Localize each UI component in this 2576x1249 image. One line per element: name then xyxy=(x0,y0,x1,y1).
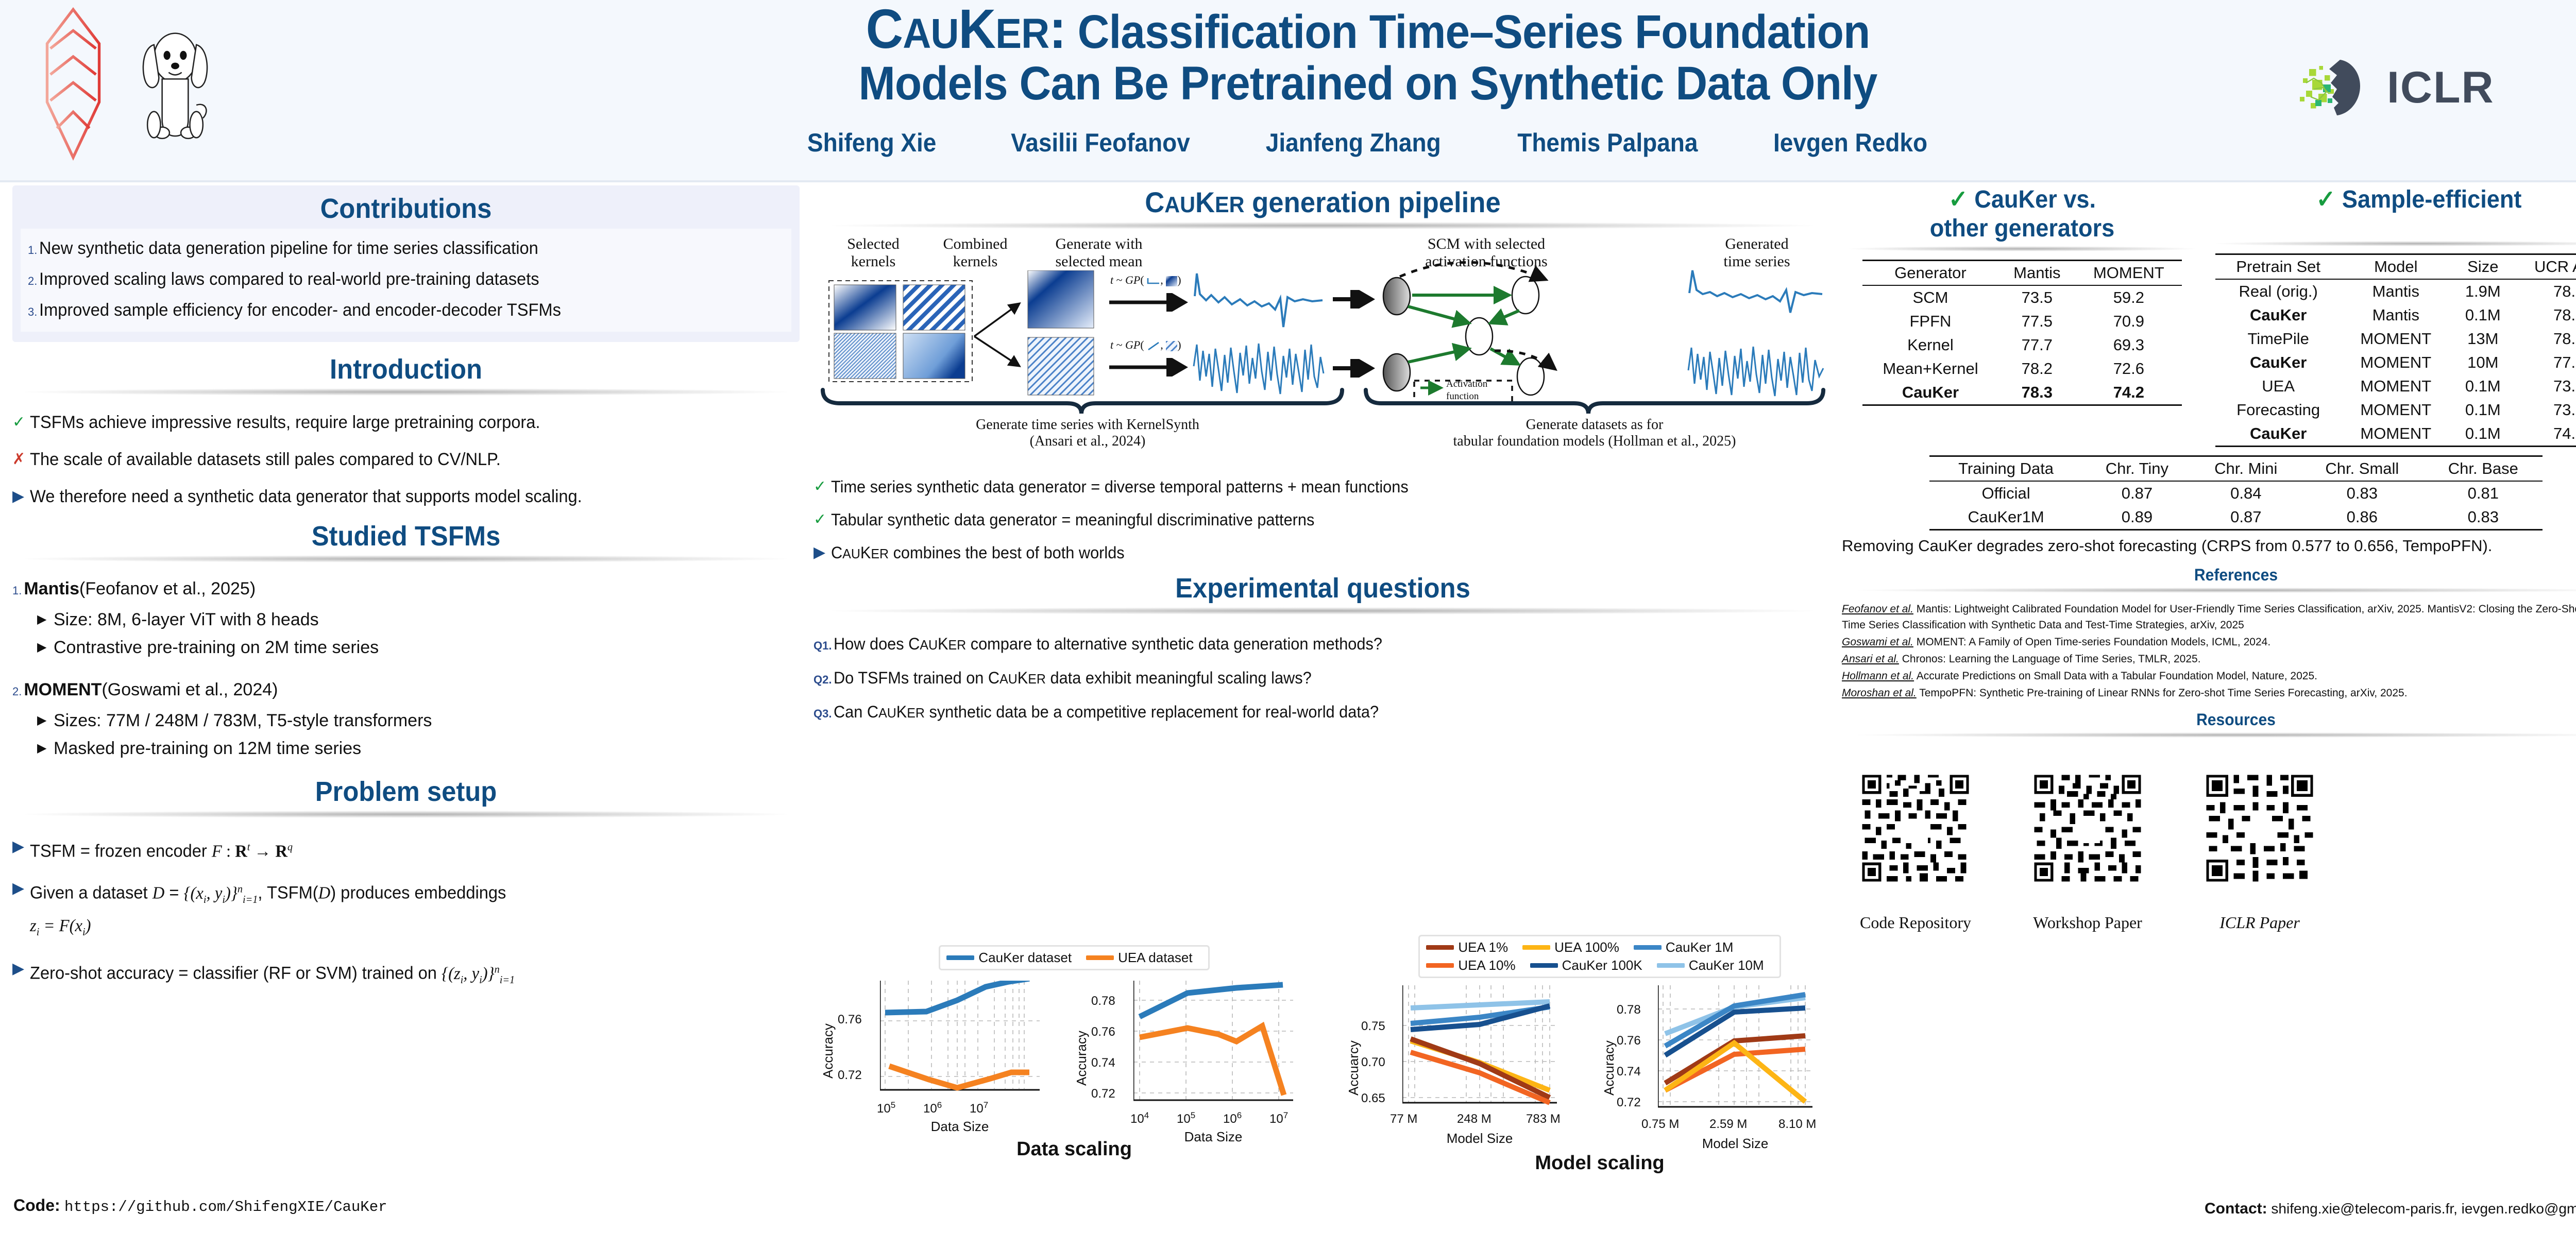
list-item: 3.Improved sample efficiency for encoder… xyxy=(28,296,784,327)
cauker-pipeline-figure: Selectedkernels Combinedkernels Generate… xyxy=(811,235,1834,405)
studied-tsfms-heading: Studied TSFMs xyxy=(33,520,779,552)
table-header-row: Training Data Chr. Tiny Chr. Mini Chr. S… xyxy=(1929,456,2543,482)
x-tick: 77 M xyxy=(1390,1112,1417,1126)
data-scaling-figure: CauKer dataset UEA dataset Accuracy 0.76… xyxy=(819,945,1329,1160)
section-divider xyxy=(25,811,787,818)
x-axis-label: Model Size xyxy=(1658,1136,1812,1152)
combine-arrows xyxy=(972,285,1029,383)
table-header-row: Pretrain Set Model Size UCR Acc. xyxy=(2215,254,2576,280)
list-item: ▶Masked pre-training on 12M time series xyxy=(37,734,803,762)
code-url[interactable]: https://github.com/ShifengXIE/CauKer xyxy=(64,1199,387,1216)
col-header: Size xyxy=(2450,254,2515,280)
list-item: ▶We therefore need a synthetic data gene… xyxy=(12,483,803,510)
legend-item: UEA 1% xyxy=(1426,939,1508,955)
list-item: ▶Size: 8M, 6-layer ViT with 8 heads xyxy=(37,606,803,634)
references-heading: References xyxy=(1866,566,2576,585)
pipeline-col-label-3: Generate withselected mean xyxy=(1027,235,1171,270)
gp-label-bottom: t ~ GP( , ) xyxy=(1110,338,1181,352)
plot-area xyxy=(1402,985,1557,1109)
check-icon: ✓ xyxy=(814,473,831,500)
author-name: Ievgen Redko xyxy=(1773,128,1927,158)
legend-item: UEA 100% xyxy=(1522,939,1619,955)
forecasting-note: Removing CauKer degrades zero-shot forec… xyxy=(1842,535,2576,557)
studied-tsfms-list-2: 2.MOMENT (Goswami et al., 2024) xyxy=(9,677,803,705)
legend-swatch xyxy=(1634,945,1662,950)
moment-bullets: ▶Sizes: 77M / 248M / 783M, T5-style tran… xyxy=(37,707,803,762)
sample-efficient-heading: ✓ Sample-efficient xyxy=(2221,185,2576,214)
y-tick: 0.74 xyxy=(1617,1065,1641,1079)
left-column: Contributions 1.New synthetic data gener… xyxy=(9,185,803,1003)
y-tick: 0.78 xyxy=(1091,994,1115,1008)
y-tick: 0.76 xyxy=(1091,1025,1115,1039)
table-row: Mean+Kernel78.272.6 xyxy=(1862,357,2182,381)
arrow-to-scm-bottom xyxy=(1332,359,1376,378)
triangle-bullet-icon: ▶ xyxy=(37,634,54,661)
legend-item: UEA dataset xyxy=(1086,950,1193,966)
problem-setup-section: Problem setup ▶ TSFM = frozen encoder F … xyxy=(9,776,803,993)
col-header: Chr. Mini xyxy=(2192,456,2300,482)
experimental-questions-heading: Experimental questions xyxy=(842,572,1804,604)
legend-label: CauKer 100K xyxy=(1562,957,1642,973)
table-row: CauKerMantis0.1M78.6 xyxy=(2215,303,2576,327)
arrow-to-series-bottom xyxy=(1108,358,1191,377)
header-divider xyxy=(0,180,2576,182)
legend-swatch xyxy=(946,955,974,960)
chart-model-scaling-moment: Accuarcy 0.75 0.70 0.65 xyxy=(1345,980,1587,1130)
legend-label: CauKer dataset xyxy=(978,950,1072,966)
qr-icon xyxy=(2031,751,2144,905)
legend-label: UEA dataset xyxy=(1118,950,1193,966)
col-header: Chr. Small xyxy=(2300,456,2424,482)
col-header: UCR Acc. xyxy=(2515,254,2576,280)
section-divider xyxy=(25,555,787,562)
right-column: ✓ CauKer vs. other generators Generator … xyxy=(1842,185,2576,932)
contact-label: Contact: xyxy=(2205,1200,2267,1217)
check-icon: ✓ xyxy=(814,506,831,533)
col-header: Pretrain Set xyxy=(2215,254,2341,280)
legend-swatch xyxy=(1657,963,1685,968)
y-tick: 0.76 xyxy=(1617,1034,1641,1048)
table-row: SCM73.559.2 xyxy=(1862,285,2182,310)
triangle-bullet-icon: ▶ xyxy=(37,734,54,762)
chart-data-scaling-moment: Accuracy 0.78 0.76 0.74 0.72 104 105 106 xyxy=(1073,972,1315,1117)
list-item: 2.MOMENT (Goswami et al., 2024) xyxy=(12,677,803,705)
y-tick: 0.72 xyxy=(1617,1096,1641,1110)
code-repo-line: Code: https://github.com/ShifengXIE/CauK… xyxy=(13,1196,387,1216)
triangle-bullet-icon: ▶ xyxy=(12,483,30,510)
list-item: ▶ Zero-shot accuracy = classifier (RF or… xyxy=(12,955,803,993)
list-item: Q3. Can CAUKER synthetic data be a compe… xyxy=(814,696,1834,730)
qr-code-code-repository[interactable]: Code Repository xyxy=(1859,751,1972,932)
section-divider xyxy=(832,607,1814,614)
timeseries-smooth-plot xyxy=(1193,267,1327,329)
chart-data-scaling-mantis: Accuracy 0.76 0.72 105 106 xyxy=(819,972,1061,1117)
legend-label: CauKer 1M xyxy=(1666,939,1734,955)
x-tick: 105 xyxy=(1177,1110,1195,1126)
iclr-brain-icon xyxy=(2295,49,2372,126)
resources-heading: Resources xyxy=(1866,710,2576,729)
code-label: Code: xyxy=(13,1196,60,1214)
legend-item: CauKer 100K xyxy=(1530,957,1642,973)
sample-efficient-panel: ✓ Sample-efficient Pretrain Set Model Si… xyxy=(2208,185,2576,447)
experimental-questions-section: Experimental questions Q1. How does CAUK… xyxy=(811,572,1834,730)
list-item: ✓TSFMs achieve impressive results, requi… xyxy=(12,409,803,436)
model-scaling-legend: UEA 1% UEA 100% CauKer 1M UEA 10% CauKer… xyxy=(1418,935,1781,978)
reference-item: Hollmann et al. Accurate Predictions on … xyxy=(1842,668,2576,684)
legend-label: CauKer 10M xyxy=(1689,957,1764,973)
reference-item: Feofanov et al. Mantis: Lightweight Cali… xyxy=(1842,601,2576,633)
list-item: 2.Improved scaling laws compared to real… xyxy=(28,265,784,296)
x-tick: 0.75 M xyxy=(1641,1117,1679,1132)
plot-area xyxy=(1658,985,1812,1114)
author-list: Shifeng Xie Vasilii Feofanov Jianfeng Zh… xyxy=(505,128,2231,158)
brace-left-caption: Generate time series with KernelSynth(An… xyxy=(820,417,1355,450)
list-item: Q1. How does CAUKER compare to alternati… xyxy=(814,628,1834,662)
table-row: ForecastingMOMENT0.1M73.9 xyxy=(2215,398,2576,422)
list-item: ✓ Tabular synthetic data generator = mea… xyxy=(814,506,1834,533)
chart-model-scaling-mantis: Accuracy 0.78 0.76 0.74 0.72 xyxy=(1600,980,1842,1130)
table-row: Real (orig.)Mantis1.9M78.7 xyxy=(2215,279,2576,303)
pipeline-col-label-1: Selectedkernels xyxy=(822,235,925,270)
contributions-heading: Contributions xyxy=(44,193,768,225)
takeaways-list: ✓ Time series synthetic data generator =… xyxy=(811,473,1834,567)
x-axis-label: Data Size xyxy=(1133,1129,1293,1145)
qr-caption: Workshop Paper xyxy=(2031,913,2144,932)
dog-mascot-logo xyxy=(126,19,224,152)
y-axis-label: Accuracy xyxy=(820,991,836,1079)
section-divider xyxy=(1858,732,2576,738)
qr-icon xyxy=(2204,751,2316,905)
author-name: Themis Palpana xyxy=(1517,128,1698,158)
author-name: Vasilii Feofanov xyxy=(1011,128,1190,158)
x-tick: 248 M xyxy=(1457,1112,1492,1126)
reference-item: Ansari et al. Chronos: Learning the Lang… xyxy=(1842,651,2576,667)
cauker-shield-logo xyxy=(32,6,114,161)
selected-kernels-group xyxy=(828,280,973,383)
legend-swatch xyxy=(1086,955,1114,960)
table-row: FPFN77.570.9 xyxy=(1862,310,2182,333)
triangle-bullet-icon: ▶ xyxy=(814,539,831,566)
brace-left xyxy=(820,388,1355,416)
x-tick: 107 xyxy=(1269,1110,1288,1126)
y-axis-label: Accuarcy xyxy=(1346,998,1362,1096)
list-item: ▶Contrastive pre-training on 2M time ser… xyxy=(37,634,803,661)
vs-generators-panel: ✓ CauKer vs. other generators Generator … xyxy=(1842,185,2202,447)
arrow-to-series-top xyxy=(1108,293,1191,312)
y-tick: 0.72 xyxy=(1091,1087,1115,1101)
contributions-panel: Contributions 1.New synthetic data gener… xyxy=(12,185,800,342)
studied-tsfms-section: Studied TSFMs 1.Mantis (Feofanov et al.,… xyxy=(9,520,803,762)
studied-tsfms-list: 1.Mantis (Feofanov et al., 2025) xyxy=(9,576,803,604)
y-tick: 0.74 xyxy=(1091,1056,1115,1070)
problem-setup-list: ▶ TSFM = frozen encoder F : Rt → Rq ▶ Gi… xyxy=(9,833,803,993)
reference-item: Moroshan et al. TempoPFN: Synthetic Pre-… xyxy=(1842,685,2576,701)
check-icon: ✓ xyxy=(1948,186,1968,213)
problem-setup-heading: Problem setup xyxy=(33,776,779,808)
iclr-wordmark: ICLR xyxy=(2387,62,2495,113)
qr-code-iclr-paper[interactable]: ICLR Paper xyxy=(2204,751,2316,932)
legend-swatch xyxy=(1530,963,1558,968)
table-row: CauKer78.374.2 xyxy=(1862,381,2182,405)
list-item: ▶ Given a dataset D = {(xi, yi)}ni=1, TS… xyxy=(12,875,803,945)
triangle-bullet-icon: ▶ xyxy=(12,955,30,982)
legend-item: CauKer 1M xyxy=(1634,939,1734,955)
problem-bullet-1: TSFM = frozen encoder F : Rt → Rq xyxy=(30,833,772,865)
y-axis-label: Accuracy xyxy=(1601,998,1617,1096)
x-tick: 106 xyxy=(923,1100,942,1116)
section-divider xyxy=(1849,246,2195,251)
x-tick: 106 xyxy=(1223,1110,1242,1126)
x-tick: 107 xyxy=(970,1100,988,1116)
list-item: ✗The scale of available datasets still p… xyxy=(12,446,803,473)
references-list: Feofanov et al. Mantis: Lightweight Cali… xyxy=(1842,601,2576,701)
title-line-1: CAUKER: Classification Time–Series Found… xyxy=(565,4,2171,59)
table-row: Kernel77.769.3 xyxy=(1862,333,2182,357)
legend-swatch xyxy=(1426,945,1454,950)
y-tick: 0.78 xyxy=(1617,1003,1641,1017)
col-header: Model xyxy=(2341,254,2450,280)
questions-list: Q1. How does CAUKER compare to alternati… xyxy=(811,628,1834,730)
qr-code-row: Code Repository xyxy=(1842,751,2576,932)
legend-item: CauKer 10M xyxy=(1657,957,1764,973)
pipeline-col-label-2: Combinedkernels xyxy=(924,235,1027,270)
triangle-bullet-icon: ▶ xyxy=(37,606,54,634)
y-tick: 0.76 xyxy=(838,1013,862,1027)
pipeline-heading: CAUKER generation pipeline xyxy=(842,185,1804,219)
table-row: CauKerMOMENT0.1M74.2 xyxy=(2215,422,2576,447)
poster-title: CAUKER: Classification Time–Series Found… xyxy=(505,4,2231,108)
table-row: CauKerMOMENT10M77.5 xyxy=(2215,351,2576,374)
list-item: Q2. Do TSFMs trained on CAUKER data exhi… xyxy=(814,662,1834,696)
table-row: CauKer1M0.890.870.860.83 xyxy=(1929,505,2543,530)
mantis-bullets: ▶Size: 8M, 6-layer ViT with 8 heads ▶Con… xyxy=(37,606,803,661)
check-icon: ✓ xyxy=(2316,186,2336,213)
list-item: ▶ CAUKER combines the best of both world… xyxy=(814,539,1834,567)
mean-sketch-icon xyxy=(1147,341,1160,351)
introduction-heading: Introduction xyxy=(33,353,779,385)
introduction-list: ✓TSFMs achieve impressive results, requi… xyxy=(9,409,803,510)
problem-bullet-3: Zero-shot accuracy = classifier (RF or S… xyxy=(30,955,772,993)
legend-label: UEA 100% xyxy=(1554,939,1619,955)
author-name: Jianfeng Zhang xyxy=(1266,128,1441,158)
vs-generators-heading: ✓ CauKer vs. other generators xyxy=(1853,185,2192,243)
table-row: UEAMOMENT0.1M73.5 xyxy=(2215,374,2576,398)
y-tick: 0.65 xyxy=(1361,1091,1385,1106)
section-divider xyxy=(832,222,1814,229)
legend-label: UEA 10% xyxy=(1458,957,1515,973)
cross-icon: ✗ xyxy=(12,446,30,473)
combined-kernels-group xyxy=(1023,270,1105,396)
plot-area xyxy=(1133,981,1293,1108)
plot-area xyxy=(880,981,1040,1097)
qr-code-workshop-paper[interactable]: Workshop Paper xyxy=(2031,751,2144,932)
legend-label: UEA 1% xyxy=(1458,939,1508,955)
triangle-bullet-icon: ▶ xyxy=(12,833,30,860)
model-scaling-caption: Model scaling xyxy=(1345,1152,1855,1174)
gp-label-top: t ~ GP( , ) xyxy=(1110,273,1181,287)
list-item: ▶ TSFM = frozen encoder F : Rt → Rq xyxy=(12,833,803,865)
middle-column: CAUKER generation pipeline Selectedkerne… xyxy=(811,185,1834,730)
generated-timeseries-top xyxy=(1687,267,1826,324)
list-item: 1.New synthetic data generation pipeline… xyxy=(28,234,784,265)
x-tick: 105 xyxy=(877,1100,895,1116)
problem-bullet-2: Given a dataset D = {(xi, yi)}ni=1, TSFM… xyxy=(30,875,772,945)
iclr-logo: ICLR xyxy=(2295,49,2495,126)
x-tick: 783 M xyxy=(1526,1112,1561,1126)
data-scaling-legend: CauKer dataset UEA dataset xyxy=(939,945,1209,970)
section-divider xyxy=(1858,588,2576,593)
scm-graph: Activation function xyxy=(1376,255,1649,404)
kernel-thumb-icon xyxy=(1166,341,1177,351)
y-tick: 0.75 xyxy=(1361,1019,1385,1034)
contributions-list: 1.New synthetic data generation pipeline… xyxy=(28,234,784,327)
col-header: Chr. Base xyxy=(2424,456,2543,482)
pipeline-col-label-5: Generatedtime series xyxy=(1698,235,1816,270)
col-header: Chr. Tiny xyxy=(2082,456,2191,482)
col-header: Training Data xyxy=(1929,456,2082,482)
triangle-bullet-icon: ▶ xyxy=(12,875,30,902)
x-tick: 8.10 M xyxy=(1778,1117,1816,1132)
introduction-section: Introduction ✓TSFMs achieve impressive r… xyxy=(9,353,803,510)
model-scaling-figure: UEA 1% UEA 100% CauKer 1M UEA 10% CauKer… xyxy=(1345,935,1855,1174)
table-row: TimePileMOMENT13M78.9 xyxy=(2215,327,2576,351)
list-item: ✓ Time series synthetic data generator =… xyxy=(814,473,1834,500)
list-item: 1.Mantis (Feofanov et al., 2025) xyxy=(12,576,803,604)
table-header-row: Generator Mantis MOMENT xyxy=(1862,261,2182,286)
legend-swatch xyxy=(1426,963,1454,968)
contact-value: shifeng.xie@telecom-paris.fr, ievgen.red… xyxy=(2267,1201,2576,1217)
x-tick: 2.59 M xyxy=(1709,1117,1747,1132)
qr-caption: Code Repository xyxy=(1859,913,1972,932)
x-axis-label: Data Size xyxy=(880,1119,1040,1135)
list-item: ▶Sizes: 77M / 248M / 783M, T5-style tran… xyxy=(37,707,803,734)
contact-line: Contact: shifeng.xie@telecom-paris.fr, i… xyxy=(2205,1200,2576,1218)
author-name: Shifeng Xie xyxy=(807,128,936,158)
table-row: Official0.870.840.830.81 xyxy=(1929,481,2543,505)
legend-item: UEA 10% xyxy=(1426,957,1515,973)
col-header: Generator xyxy=(1862,261,1998,286)
qr-icon xyxy=(1859,751,1972,905)
takeaway-3: CAUKER combines the best of both worlds xyxy=(831,539,1794,567)
y-axis-label: Accuracy xyxy=(1074,988,1090,1086)
kernel-thumb-icon xyxy=(1166,276,1177,286)
x-tick: 104 xyxy=(1130,1110,1149,1126)
chronos-table: Training Data Chr. Tiny Chr. Mini Chr. S… xyxy=(1929,455,2543,531)
brace-right xyxy=(1363,388,1826,416)
title-line-2: Models Can Be Pretrained on Synthetic Da… xyxy=(565,59,2171,108)
legend-item: CauKer dataset xyxy=(946,950,1072,966)
mean-sketch-icon xyxy=(1147,276,1160,286)
section-divider xyxy=(2216,241,2576,246)
legend-swatch xyxy=(1522,945,1550,950)
col-header: Mantis xyxy=(1998,261,2076,286)
check-icon: ✓ xyxy=(12,409,30,436)
arrow-to-scm-top xyxy=(1332,290,1376,309)
sample-efficient-table: Pretrain Set Model Size UCR Acc. Real (o… xyxy=(2215,253,2576,447)
vs-generators-table: Generator Mantis MOMENT SCM73.559.2 FPFN… xyxy=(1862,260,2182,406)
triangle-bullet-icon: ▶ xyxy=(37,707,54,734)
y-tick: 0.70 xyxy=(1361,1055,1385,1070)
reference-item: Goswami et al. MOMENT: A Family of Open … xyxy=(1842,634,2576,650)
section-divider xyxy=(25,388,787,396)
brace-right-caption: Generate datasets as fortabular foundati… xyxy=(1358,417,1832,450)
x-axis-label: Model Size xyxy=(1402,1131,1557,1147)
col-header: MOMENT xyxy=(2076,261,2182,286)
y-tick: 0.72 xyxy=(838,1068,862,1083)
qr-caption: ICLR Paper xyxy=(2204,913,2316,932)
